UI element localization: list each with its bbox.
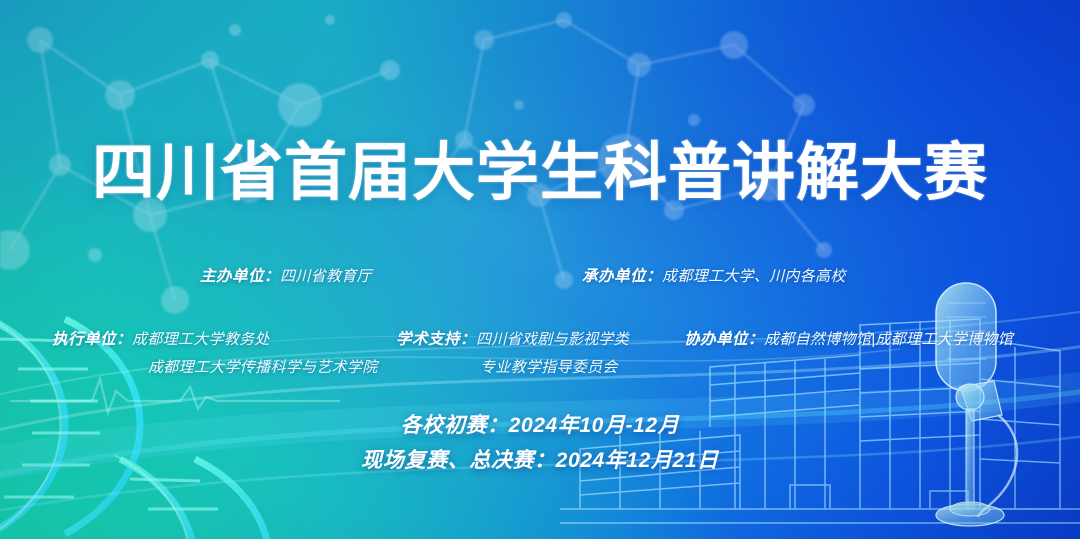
organizer-value: 成都自然博物馆|成都理工大学博物馆 — [764, 331, 1013, 348]
organizer-label: 学术支持： — [396, 331, 476, 348]
organizer-value: 成都理工大学教务处 — [132, 331, 270, 348]
organizer-value: 成都理工大学、川内各高校 — [662, 268, 846, 285]
organizer-label: 协办单位： — [684, 331, 764, 348]
organizer-value-line2: 专业教学指导委员会 — [480, 356, 629, 377]
organizer-value: 四川省教育厅 — [280, 268, 372, 285]
organizer-host: 主办单位：四川省教育厅 — [200, 264, 372, 286]
organizer-label: 执行单位： — [52, 331, 132, 348]
organizer-label: 承办单位： — [582, 268, 662, 285]
organizer-label: 主办单位： — [200, 268, 280, 285]
schedule-block: 各校初赛：2024年10月-12月 现场复赛、总决赛：2024年12月21日 — [0, 408, 1080, 478]
organizer-executor: 执行单位：成都理工大学教务处 成都理工大学传播科学与艺术学院 — [52, 327, 378, 377]
organizer-assistant: 协办单位：成都自然博物馆|成都理工大学博物馆 — [684, 327, 1013, 349]
organizer-value: 四川省戏剧与影视学类 — [476, 331, 629, 348]
organizer-co-host: 承办单位：成都理工大学、川内各高校 — [582, 264, 846, 286]
schedule-line-preliminary: 各校初赛：2024年10月-12月 — [0, 408, 1080, 443]
schedule-line-final: 现场复赛、总决赛：2024年12月21日 — [0, 443, 1080, 478]
organizer-academic-support: 学术支持：四川省戏剧与影视学类 专业教学指导委员会 — [396, 327, 629, 377]
poster-banner: 四川省首届大学生科普讲解大赛 主办单位：四川省教育厅 承办单位：成都理工大学、川… — [0, 0, 1080, 539]
page-title: 四川省首届大学生科普讲解大赛 — [0, 140, 1080, 206]
organizer-value-line2: 成都理工大学传播科学与艺术学院 — [148, 356, 378, 377]
poster-content: 四川省首届大学生科普讲解大赛 主办单位：四川省教育厅 承办单位：成都理工大学、川… — [0, 0, 1080, 539]
